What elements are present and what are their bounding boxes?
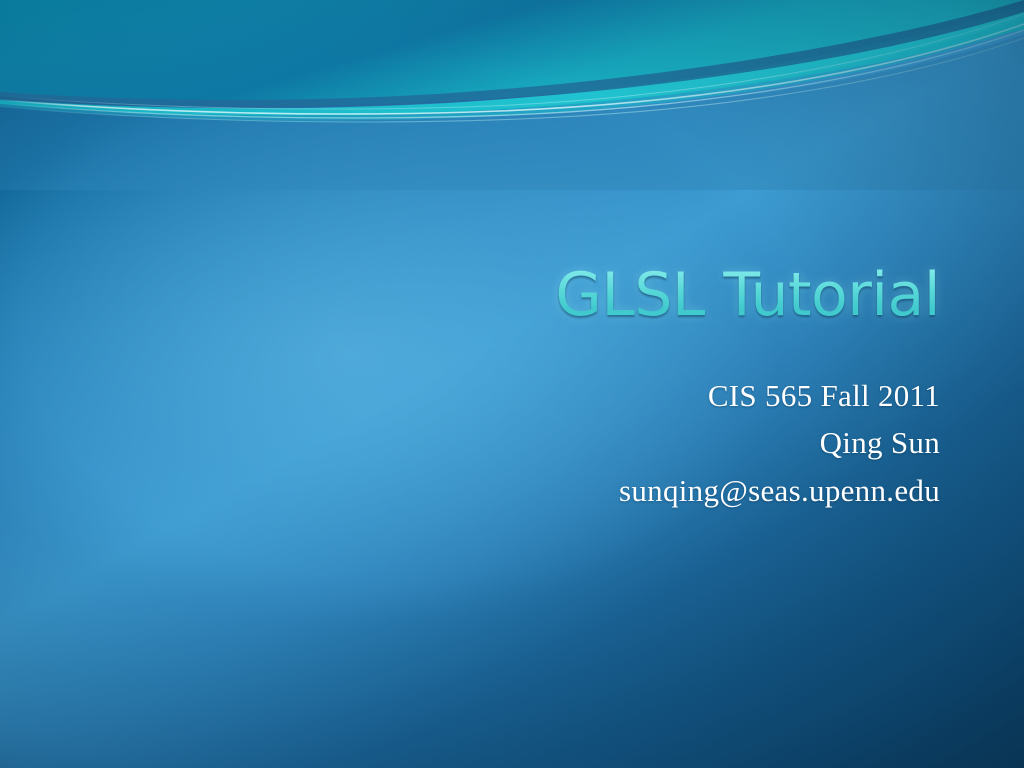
subtitle-block: CIS 565 Fall 2011 Qing Sun sunqing@seas.… bbox=[300, 372, 940, 514]
presentation-slide: GLSL Tutorial CIS 565 Fall 2011 Qing Sun… bbox=[0, 0, 1024, 768]
subtitle-line-author: Qing Sun bbox=[300, 419, 940, 466]
subtitle-line-email: sunqing@seas.upenn.edu bbox=[300, 467, 940, 514]
page-title: GLSL Tutorial bbox=[300, 262, 940, 328]
subtitle-line-course: CIS 565 Fall 2011 bbox=[300, 372, 940, 419]
title-block: GLSL Tutorial bbox=[300, 262, 940, 328]
